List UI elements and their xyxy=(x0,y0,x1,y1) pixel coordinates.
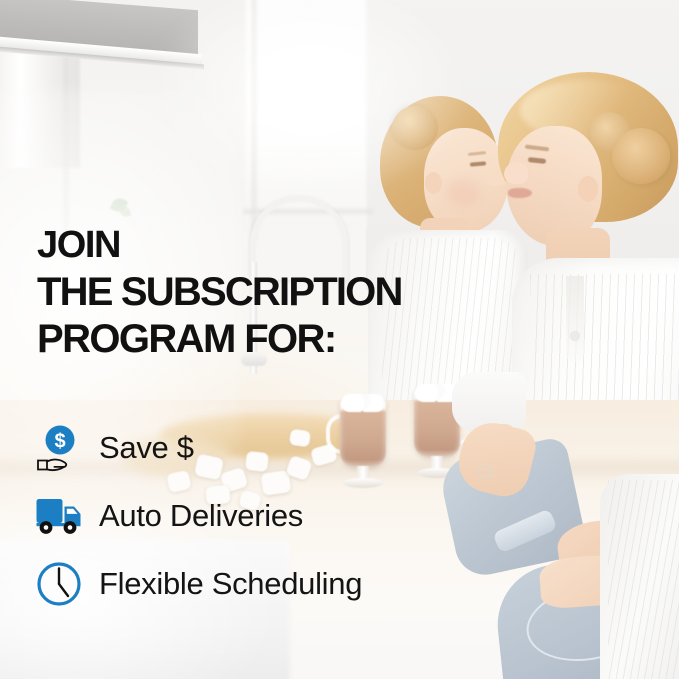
sweater-hem xyxy=(600,474,679,679)
svg-text:$: $ xyxy=(54,431,65,453)
mother-lips xyxy=(508,188,532,198)
headline-line-3: PROGRAM FOR: xyxy=(37,316,402,363)
headline: JOIN THE SUBSCRIPTION PROGRAM FOR: xyxy=(37,222,402,363)
mother-hair-bun xyxy=(612,128,670,184)
mother-nose xyxy=(504,162,528,184)
headline-line-2: THE SUBSCRIPTION xyxy=(37,269,402,316)
feature-row-save: $ Save $ xyxy=(35,414,362,482)
marshmallow-topping xyxy=(341,394,385,412)
delivery-truck-icon xyxy=(35,490,91,542)
mother-ear xyxy=(578,176,598,202)
feature-list: $ Save $ xyxy=(35,414,362,618)
blouse-button xyxy=(571,332,579,340)
feature-label-auto-deliveries: Auto Deliveries xyxy=(99,498,303,534)
blouse-placket xyxy=(566,276,584,362)
feature-row-auto-deliveries: Auto Deliveries xyxy=(35,482,362,550)
ad-creative: JOIN THE SUBSCRIPTION PROGRAM FOR: $ Sav… xyxy=(0,0,679,679)
feature-label-flexible-scheduling: Flexible Scheduling xyxy=(99,566,362,602)
hand-holding-dollar-coin-icon: $ xyxy=(35,422,91,474)
feature-label-save: Save $ xyxy=(99,430,194,466)
headline-line-1: JOIN xyxy=(37,222,402,269)
feature-row-flexible-scheduling: Flexible Scheduling xyxy=(35,550,362,618)
clock-icon xyxy=(35,558,91,610)
